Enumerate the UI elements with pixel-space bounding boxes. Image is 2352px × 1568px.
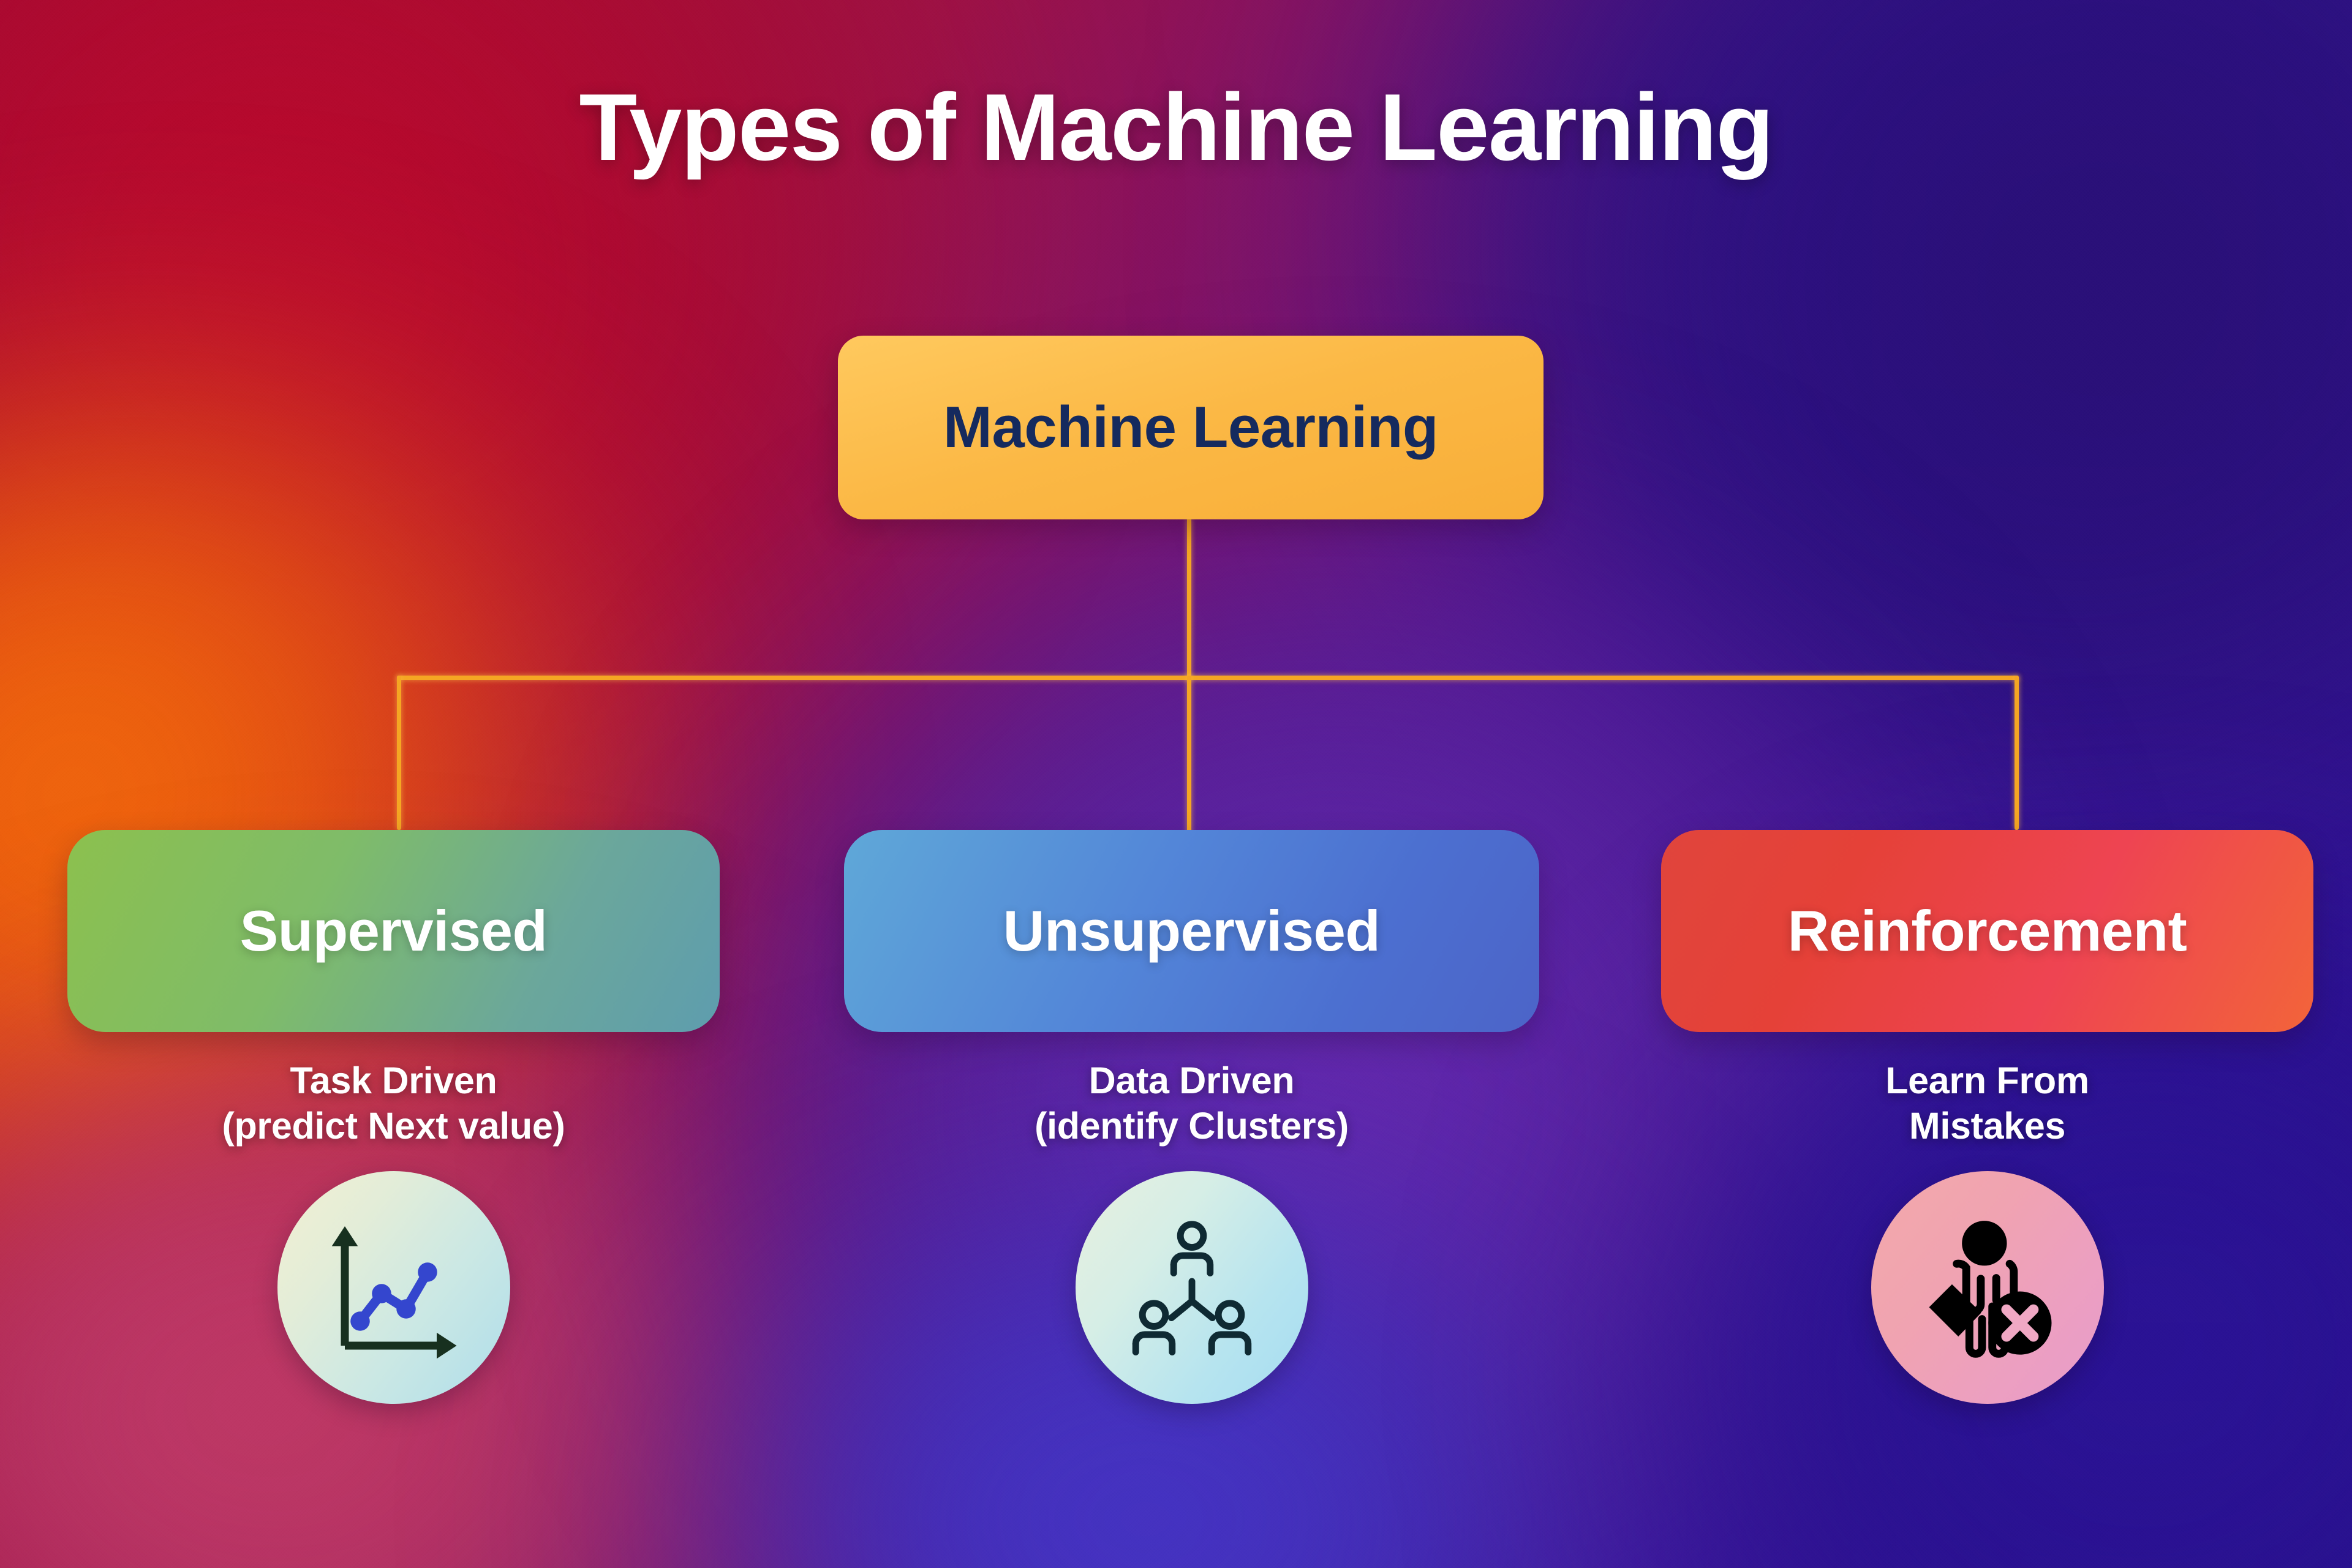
icon-circle-reinforcement (1871, 1171, 2104, 1404)
caption-supervised-line1: Task Driven (290, 1060, 497, 1101)
cluster-people-icon (1116, 1212, 1268, 1363)
icon-wrap-reinforcement (1661, 1171, 2313, 1404)
caption-reinforcement: Learn From Mistakes (1661, 1058, 2313, 1149)
line-chart-icon (317, 1211, 470, 1364)
root-node-machine-learning[interactable]: Machine Learning (838, 336, 1543, 519)
category-label-reinforcement: Reinforcement (1788, 898, 2187, 964)
root-node-label: Machine Learning (943, 394, 1438, 461)
connector-root-stem (1187, 518, 1191, 680)
category-label-unsupervised: Unsupervised (1003, 898, 1381, 964)
branch-column-reinforcement: Reinforcement Learn From Mistakes (1661, 830, 2313, 1404)
category-box-supervised[interactable]: Supervised (67, 830, 720, 1032)
caption-unsupervised-line2: (identify Clusters) (844, 1103, 1539, 1148)
infographic-canvas: Types of Machine Learning Machine Learni… (0, 0, 2352, 1568)
caption-supervised-line2: (predict Next value) (67, 1103, 720, 1148)
caption-unsupervised: Data Driven (identify Clusters) (844, 1058, 1539, 1149)
category-label-supervised: Supervised (240, 898, 548, 964)
caption-reinforcement-line2: Mistakes (1661, 1103, 2313, 1148)
person-mistake-icon (1909, 1208, 2067, 1366)
caption-unsupervised-line1: Data Driven (1089, 1060, 1295, 1101)
icon-wrap-unsupervised (844, 1171, 1539, 1404)
icon-circle-unsupervised (1076, 1171, 1308, 1404)
connector-drop-supervised (397, 676, 401, 830)
caption-supervised: Task Driven (predict Next value) (67, 1058, 720, 1149)
icon-wrap-supervised (67, 1171, 720, 1404)
connector-drop-reinforcement (2015, 676, 2019, 830)
branch-column-unsupervised: Unsupervised Data Driven (identify Clust… (844, 830, 1539, 1404)
icon-circle-supervised (277, 1171, 510, 1404)
connector-drop-unsupervised (1187, 676, 1191, 849)
branch-column-supervised: Supervised Task Driven (predict Next val… (67, 830, 720, 1404)
page-title: Types of Machine Learning (0, 80, 2352, 175)
category-box-reinforcement[interactable]: Reinforcement (1661, 830, 2313, 1032)
caption-reinforcement-line1: Learn From (1885, 1060, 2089, 1101)
connector-horizontal-bar (397, 676, 2019, 680)
category-box-unsupervised[interactable]: Unsupervised (844, 830, 1539, 1032)
